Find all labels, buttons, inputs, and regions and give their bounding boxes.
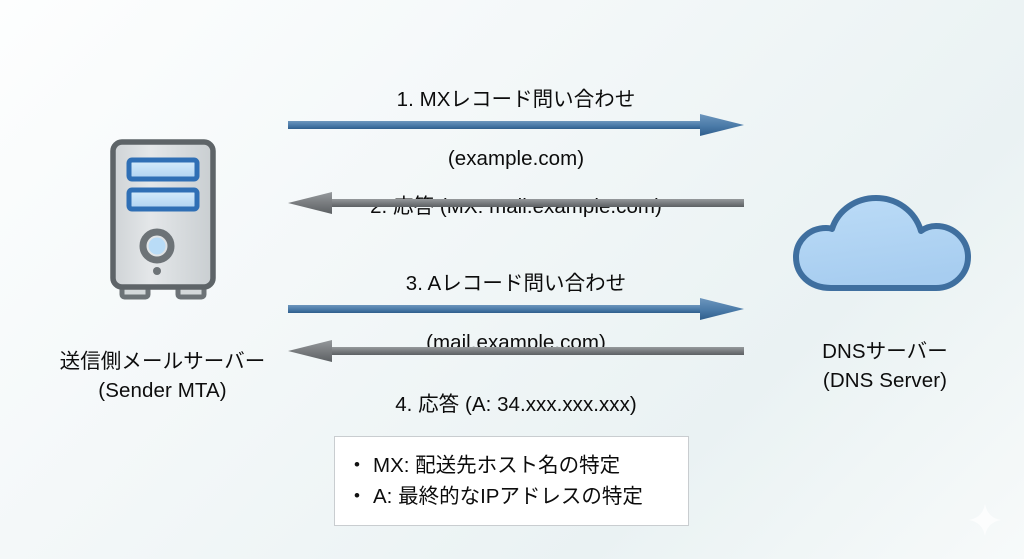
cloud-icon — [789, 192, 981, 296]
flow-4-label-line1: 4. 応答 (A: 34.xxx.xxx.xxx) — [288, 390, 744, 420]
bullet-icon: • — [354, 481, 360, 511]
cloud-graphic — [760, 192, 1010, 296]
node-dns-server: DNSサーバー (DNS Server) — [760, 192, 1010, 424]
arrow-right-blue-icon — [288, 296, 744, 322]
legend-list: • MX: 配送先ホスト名の特定 • A: 最終的なIPアドレスの特定 — [351, 450, 680, 512]
node-sender-label: 送信側メールサーバー (Sender MTA) — [20, 318, 305, 434]
node-dns-label-en: (DNS Server) — [760, 366, 1010, 395]
legend-item-mx: • MX: 配送先ホスト名の特定 — [373, 450, 680, 481]
flow-1-arrow — [288, 112, 744, 143]
flow-3-label-line1: 3. Aレコード問い合わせ — [288, 269, 744, 299]
arrow-right-blue-icon — [288, 112, 744, 138]
arrow-left-gray-icon — [288, 190, 744, 216]
server-tower-graphic — [20, 136, 305, 306]
legend-item-a: • A: 最終的なIPアドレスの特定 — [373, 481, 680, 512]
flow-3-arrow — [288, 296, 744, 327]
server-tower-icon — [104, 136, 222, 306]
sparkle-watermark-icon — [968, 503, 1002, 537]
legend-box: • MX: 配送先ホスト名の特定 • A: 最終的なIPアドレスの特定 — [334, 436, 689, 526]
diagram-canvas: 送信側メールサーバー (Sender MTA) DNSサーバー (DNS Ser… — [0, 0, 1024, 559]
bullet-icon: • — [354, 450, 360, 480]
node-dns-label: DNSサーバー (DNS Server) — [760, 308, 1010, 424]
flow-1-label-line1: 1. MXレコード問い合わせ — [288, 85, 744, 115]
node-sender-label-jp: 送信側メールサーバー — [60, 350, 266, 373]
legend-item-mx-text: MX: 配送先ホスト名の特定 — [373, 454, 620, 477]
flow-2-arrow — [288, 190, 744, 221]
legend-item-a-text: A: 最終的なIPアドレスの特定 — [373, 485, 643, 508]
node-sender-mail-server: 送信側メールサーバー (Sender MTA) — [20, 136, 305, 434]
node-sender-label-en: (Sender MTA) — [20, 376, 305, 405]
node-dns-label-jp: DNSサーバー — [822, 340, 948, 363]
